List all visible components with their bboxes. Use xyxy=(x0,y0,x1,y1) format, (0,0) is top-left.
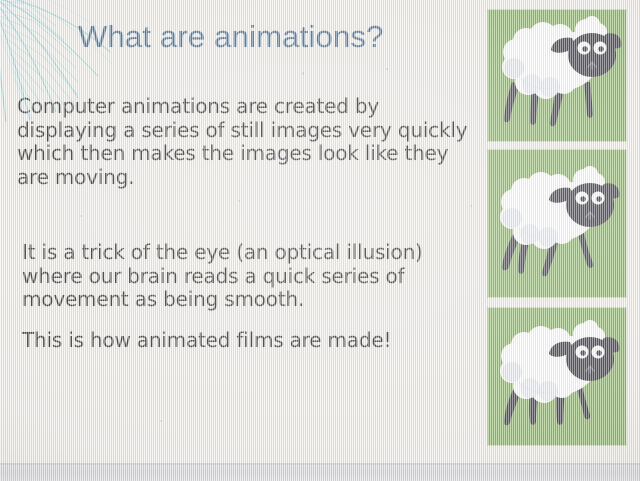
dust-speck xyxy=(80,215,82,217)
sheep-icon xyxy=(488,308,626,445)
sheep-icon xyxy=(488,150,626,297)
sheep-animation-frame-2 xyxy=(488,150,626,297)
body-paragraph-2: It is a trick of the eye (an optical ill… xyxy=(22,241,467,312)
sheep-animation-frame-3 xyxy=(488,308,626,445)
screen-bottom-strip xyxy=(0,465,640,481)
dust-speck xyxy=(238,200,240,202)
dust-speck xyxy=(386,68,388,70)
sheep-frame-column xyxy=(488,10,626,445)
slide-title: What are animations? xyxy=(78,19,458,55)
sheep-animation-frame-1 xyxy=(488,10,626,141)
dust-speck xyxy=(470,205,472,207)
body-paragraph-3: This is how animated films are made! xyxy=(22,329,467,353)
dust-speck xyxy=(160,420,162,422)
sheep-icon xyxy=(488,10,626,141)
presentation-slide: What are animations? Computer animations… xyxy=(0,0,640,481)
dust-speck xyxy=(302,72,304,75)
